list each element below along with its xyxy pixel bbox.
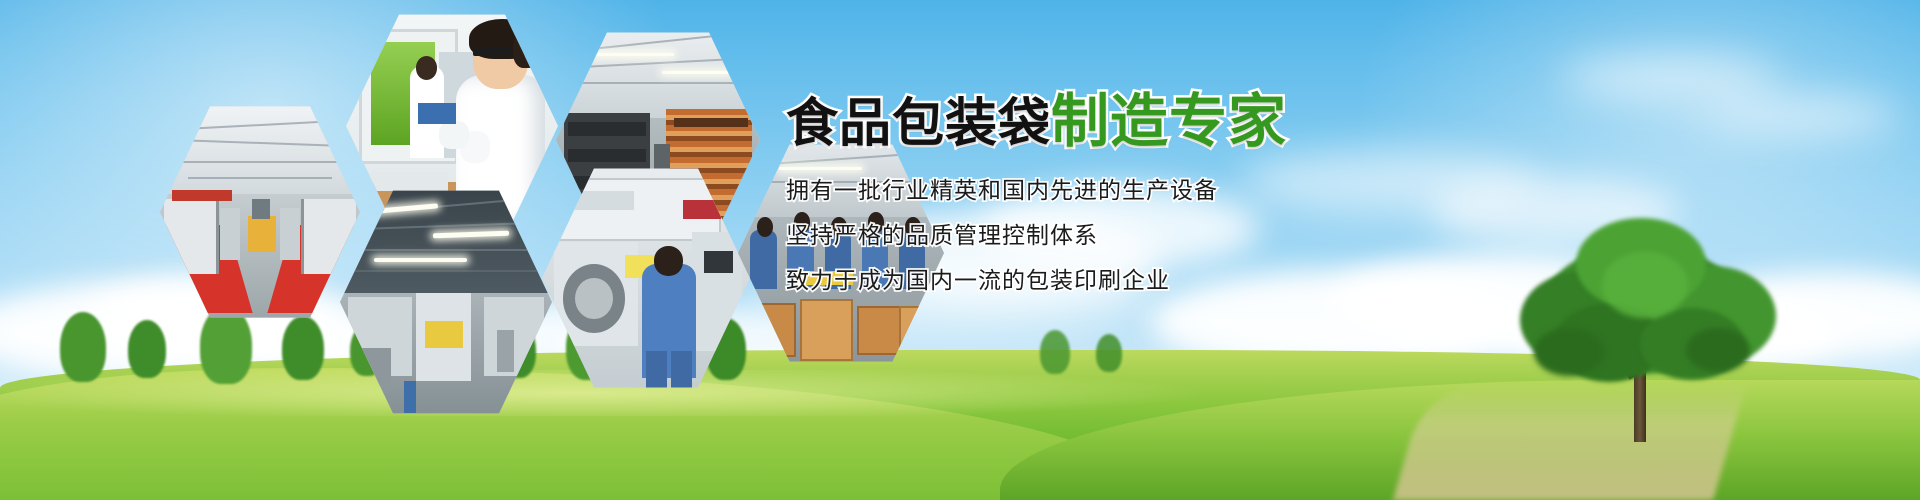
subtitle-line-3: 致力于成为国内一流的包装印刷企业 — [786, 270, 1486, 293]
subtitle-line-2: 坚持严格的品质管理控制体系 — [786, 225, 1486, 248]
subtitle-list: 拥有一批行业精英和国内先进的生产设备 坚持严格的品质管理控制体系 致力于成为国内… — [786, 180, 1486, 293]
marketing-text-block: 食品包装袋制造专家 拥有一批行业精英和国内先进的生产设备 坚持严格的品质管理控制… — [786, 92, 1486, 315]
hex-photo-printing-workshop[interactable] — [160, 102, 360, 322]
page-title: 食品包装袋制造专家 — [786, 92, 1486, 150]
headline-primary: 食品包装袋 — [786, 94, 1051, 154]
hexagon-photo-collage — [160, 10, 800, 370]
subtitle-line-1: 拥有一批行业精英和国内先进的生产设备 — [786, 180, 1486, 203]
headline-accent: 制造专家 — [1051, 87, 1287, 155]
large-tree — [1490, 208, 1790, 438]
promotional-banner: 食品包装袋制造专家 拥有一批行业精英和国内先进的生产设备 坚持严格的品质管理控制… — [0, 0, 1920, 500]
